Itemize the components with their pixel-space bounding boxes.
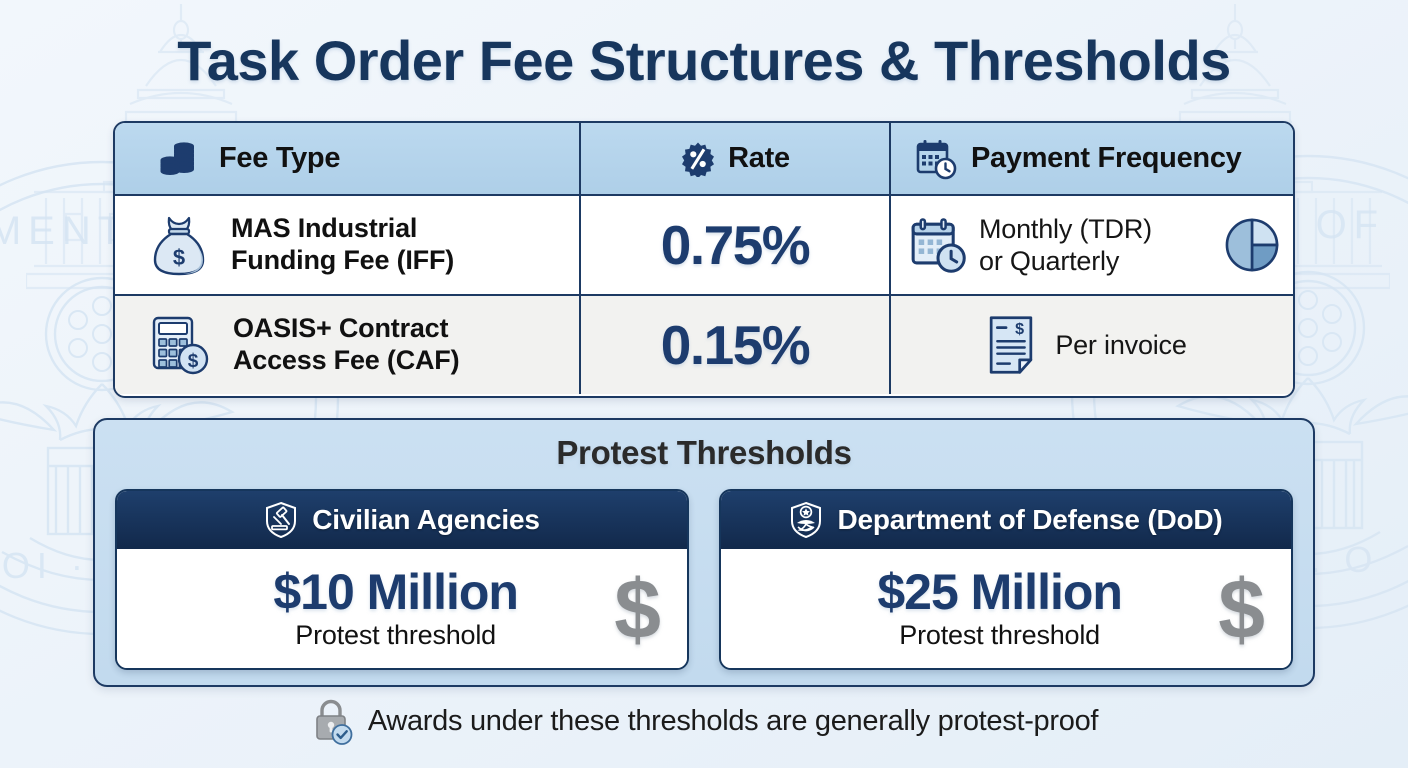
- header-cell-fee-type: Fee Type: [115, 123, 581, 194]
- threshold-amount-civilian: $10 Million: [183, 566, 608, 619]
- padlock-check-icon: [310, 696, 356, 746]
- calculator-dollar-icon: $: [147, 312, 213, 378]
- calendar-clock-icon: [909, 216, 967, 274]
- calendar-clock-icon: [915, 138, 957, 180]
- percent-badge-icon: [680, 141, 716, 177]
- infographic-page: Task Order Fee Structures & Thresholds: [0, 0, 1408, 768]
- fee-name-line1: OASIS+ Contract: [233, 313, 459, 345]
- threshold-card-body-civilian: $10 Million Protest threshold $: [117, 549, 687, 668]
- svg-text:$: $: [188, 351, 199, 372]
- threshold-subtitle-civilian: Protest threshold: [183, 620, 608, 651]
- header-cell-payment-frequency: Payment Frequency: [891, 123, 1293, 194]
- frequency-cell-iff: Monthly (TDR) or Quarterly: [891, 196, 1293, 294]
- shield-gavel-icon: [264, 501, 298, 539]
- fee-type-cell-caf: $ OASIS+ Contract Access Fee (CAF): [115, 296, 581, 394]
- dollar-sign-glyph: $: [1218, 567, 1265, 651]
- threshold-amount-dod: $25 Million: [787, 566, 1212, 619]
- threshold-card-dod: Department of Defense (DoD) $25 Million …: [719, 489, 1293, 670]
- pie-chart-icon: [1223, 216, 1281, 274]
- frequency-line2: or Quarterly: [979, 245, 1211, 277]
- header-label-fee-type: Fee Type: [219, 142, 340, 175]
- fee-name-iff: MAS Industrial Funding Fee (IFF): [231, 213, 454, 277]
- fee-name-caf: OASIS+ Contract Access Fee (CAF): [233, 313, 459, 377]
- footer-note: Awards under these thresholds are genera…: [0, 696, 1408, 746]
- shield-eagle-icon: [789, 501, 823, 539]
- fee-type-cell-iff: $ MAS Industrial Funding Fee (IFF): [115, 196, 581, 294]
- threshold-card-civilian: Civilian Agencies $10 Million Protest th…: [115, 489, 689, 670]
- fee-name-line2: Funding Fee (IFF): [231, 245, 454, 277]
- table-row: $ MAS Industrial Funding Fee (IFF) 0.75%: [115, 196, 1293, 296]
- threshold-card-header-dod: Department of Defense (DoD): [721, 491, 1291, 549]
- stacked-coins-icon: [157, 137, 201, 181]
- invoice-document-icon: $: [985, 314, 1037, 376]
- fee-structure-table: Fee Type Rate: [113, 121, 1295, 398]
- svg-text:$: $: [1016, 320, 1025, 338]
- rate-cell-iff: 0.75%: [581, 196, 891, 294]
- svg-text:$: $: [173, 245, 185, 270]
- frequency-line1: Monthly (TDR): [979, 213, 1211, 245]
- header-cell-rate: Rate: [581, 123, 891, 194]
- threshold-card-label-civilian: Civilian Agencies: [312, 504, 539, 536]
- protest-thresholds-panel: Protest Thresholds Civilian Agencies: [93, 418, 1315, 687]
- table-row: $ OASIS+ Contract Access Fee (CAF) 0.15%…: [115, 296, 1293, 394]
- rate-cell-caf: 0.15%: [581, 296, 891, 394]
- threshold-card-header-civilian: Civilian Agencies: [117, 491, 687, 549]
- rate-value-iff: 0.75%: [661, 213, 809, 277]
- fee-name-line2: Access Fee (CAF): [233, 345, 459, 377]
- rate-value-caf: 0.15%: [661, 313, 809, 377]
- money-bag-icon: $: [147, 212, 211, 278]
- frequency-text-caf: Per invoice: [1055, 329, 1186, 361]
- threshold-card-body-dod: $25 Million Protest threshold $: [721, 549, 1291, 668]
- table-header-row: Fee Type Rate: [115, 123, 1293, 196]
- header-label-rate: Rate: [728, 142, 790, 175]
- threshold-card-label-dod: Department of Defense (DoD): [837, 504, 1222, 536]
- fee-name-line1: MAS Industrial: [231, 213, 454, 245]
- frequency-cell-caf: $ Per invoice: [891, 296, 1293, 394]
- footer-text: Awards under these thresholds are genera…: [368, 705, 1098, 738]
- protest-thresholds-title: Protest Thresholds: [95, 434, 1313, 472]
- threshold-subtitle-dod: Protest threshold: [787, 620, 1212, 651]
- page-title: Task Order Fee Structures & Thresholds: [0, 28, 1408, 93]
- header-label-payment-frequency: Payment Frequency: [971, 142, 1242, 175]
- dollar-sign-glyph: $: [614, 567, 661, 651]
- frequency-line1: Per invoice: [1055, 329, 1186, 361]
- frequency-text-iff: Monthly (TDR) or Quarterly: [979, 213, 1211, 278]
